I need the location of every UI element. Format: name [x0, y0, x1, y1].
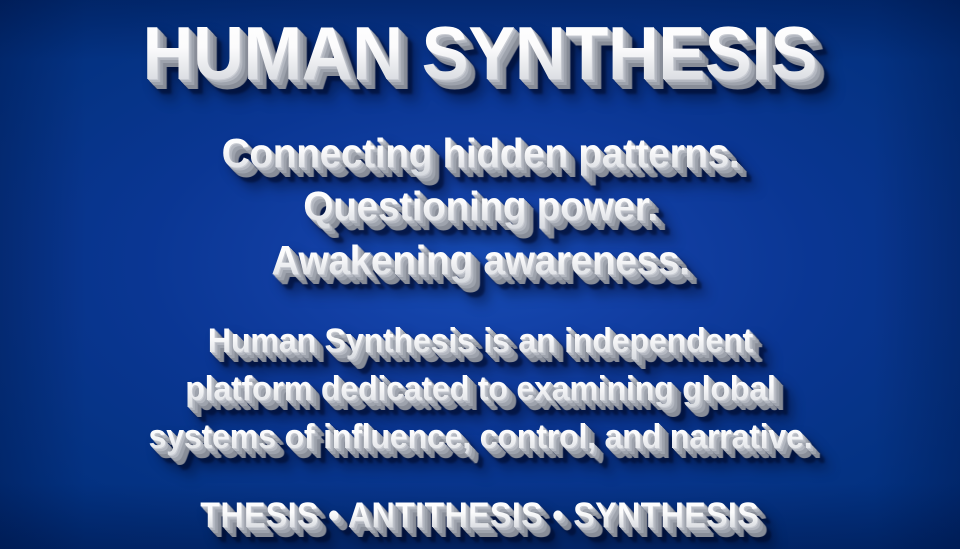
footer-motto: THESIS • ANTITHESIS • SYNTHESIS — [201, 498, 760, 533]
description-line-2: platform dedicated to examining global — [148, 365, 812, 413]
description-line-1: Human Synthesis is an independent — [148, 317, 812, 365]
tagline-line-3: Awakening awareness. — [221, 234, 739, 287]
tagline-line-1: Connecting hidden patterns. — [221, 127, 739, 180]
human-synthesis-banner: HUMAN SYNTHESIS Connecting hidden patter… — [0, 0, 960, 549]
description-line-3: systems of influence, control, and narra… — [148, 413, 812, 461]
banner-content: HUMAN SYNTHESIS Connecting hidden patter… — [0, 0, 960, 549]
tagline-line-2: Questioning power. — [221, 180, 739, 233]
tagline-block: Connecting hidden patterns. Questioning … — [208, 127, 753, 287]
footer-block: THESIS • ANTITHESIS • SYNTHESIS — [176, 498, 783, 533]
description-block: Human Synthesis is an independent platfo… — [131, 317, 830, 462]
page-title: HUMAN SYNTHESIS — [143, 16, 818, 91]
title-block: HUMAN SYNTHESIS — [121, 16, 839, 91]
